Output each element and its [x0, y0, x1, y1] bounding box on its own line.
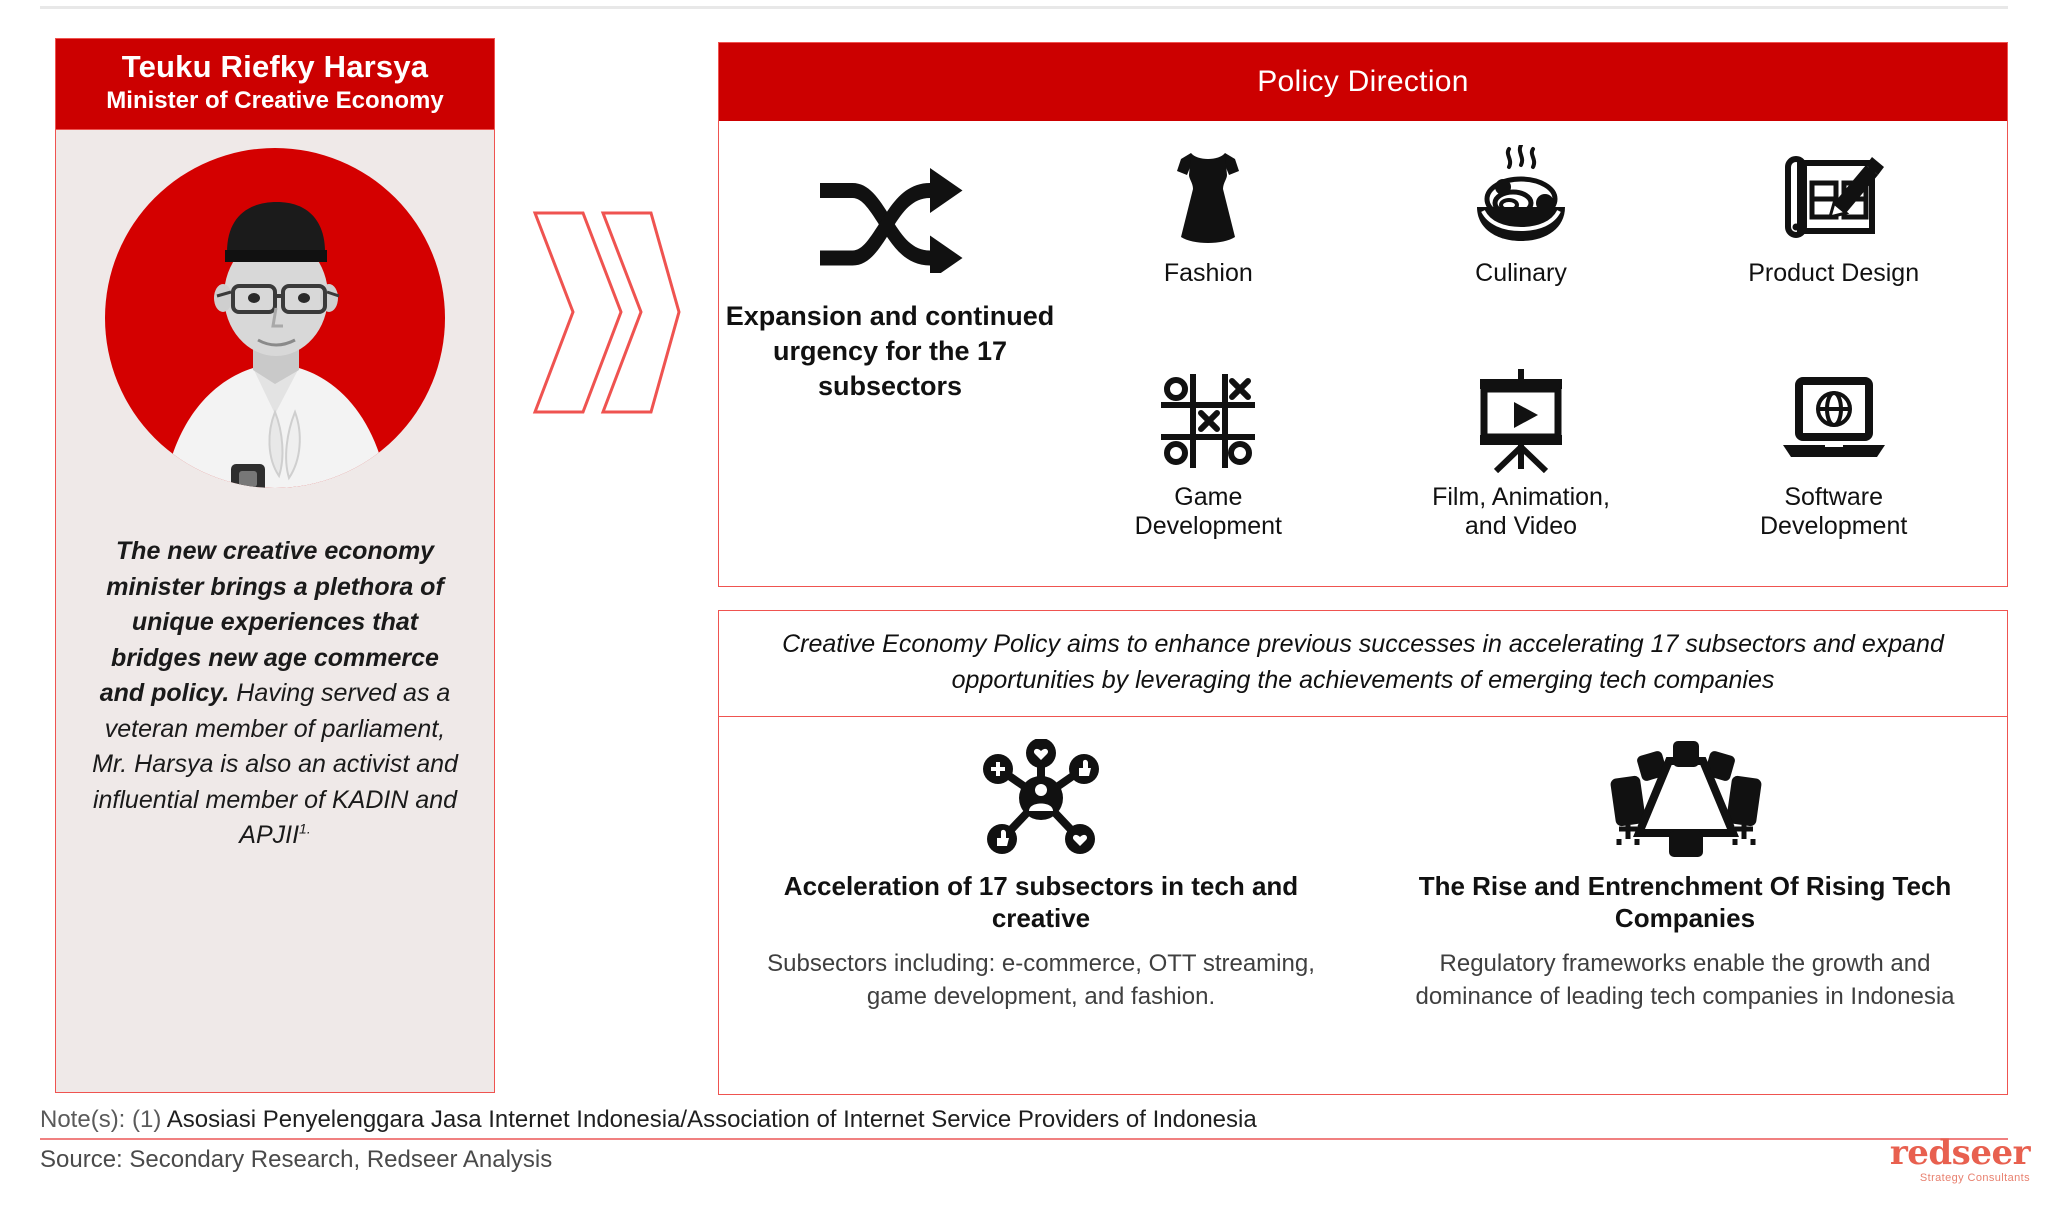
tic-tac-toe-icon — [1159, 365, 1257, 477]
subsector-game-development[interactable]: Game Development — [1055, 359, 1362, 581]
top-divider — [40, 6, 2008, 9]
pillar-rising-tech[interactable]: The Rise and Entrenchment Of Rising Tech… — [1363, 717, 2007, 1106]
pillar-heading: Acceleration of 17 subsectors in tech an… — [759, 871, 1323, 934]
minister-profile-panel: Teuku Riefky Harsya Minister of Creative… — [55, 38, 495, 1093]
subsector-label: Film, Animation, and Video — [1432, 483, 1610, 541]
subsector-label: Fashion — [1164, 259, 1253, 288]
laptop-globe-icon — [1779, 365, 1889, 477]
network-hub-icon — [978, 735, 1104, 857]
subsector-film-animation-video[interactable]: Film, Animation, and Video — [1368, 359, 1675, 581]
subsector-product-design[interactable]: Product Design — [1680, 135, 1987, 357]
notes-label: Note(s): — [40, 1106, 125, 1133]
subsector-label: Game Development — [1135, 483, 1282, 541]
logo-wordmark: redseer — [1890, 1136, 2030, 1170]
slide-root: Teuku Riefky Harsya Minister of Creative… — [0, 0, 2048, 1229]
notes-number: (1) — [132, 1106, 161, 1133]
pillar-description: Subsectors including: e-commerce, OTT st… — [759, 948, 1323, 1012]
subsector-software-development[interactable]: Software Development — [1680, 359, 1987, 581]
minister-name: Teuku Riefky Harsya — [64, 49, 486, 85]
conference-table-icon — [1605, 735, 1765, 857]
footer-divider — [40, 1138, 2008, 1140]
pillar-acceleration[interactable]: Acceleration of 17 subsectors in tech an… — [719, 717, 1363, 1106]
bio-footnote-marker: 1. — [299, 821, 311, 837]
noodle-bowl-icon — [1469, 141, 1573, 253]
subsector-fashion[interactable]: Fashion — [1055, 135, 1362, 357]
shuffle-icon — [815, 163, 965, 273]
creative-economy-policy-card: Creative Economy Policy aims to enhance … — [718, 610, 2008, 1095]
minister-photo — [56, 130, 494, 510]
subsector-label: Software Development — [1760, 483, 1907, 541]
policy-aim-banner: Creative Economy Policy aims to enhance … — [719, 611, 2007, 717]
policy-direction-card: Policy Direction Expansion and continued… — [718, 42, 2008, 587]
minister-portrait-illustration — [103, 146, 447, 510]
minister-role: Minister of Creative Economy — [64, 87, 486, 116]
notes-text: Asosiasi Penyelenggara Jasa Internet Ind… — [167, 1106, 1257, 1133]
pillar-heading: The Rise and Entrenchment Of Rising Tech… — [1403, 871, 1967, 934]
policy-pillars: Acceleration of 17 subsectors in tech an… — [719, 717, 2007, 1106]
minister-bio: The new creative economy minister brings… — [56, 510, 494, 864]
subsector-culinary[interactable]: Culinary — [1368, 135, 1675, 357]
redseer-logo: redseer Strategy Consultants — [1890, 1136, 2030, 1184]
dress-icon — [1165, 141, 1251, 253]
policy-direction-body: Expansion and continued urgency for the … — [719, 121, 2007, 586]
subsector-grid: Fashion — [1055, 135, 2001, 580]
profile-header: Teuku Riefky Harsya Minister of Creative… — [56, 39, 494, 130]
subsector-label: Product Design — [1748, 259, 1919, 288]
projector-screen-icon — [1470, 365, 1572, 477]
source-line: Source: Secondary Research, Redseer Anal… — [40, 1146, 2008, 1174]
policy-direction-title: Policy Direction — [719, 43, 2007, 121]
expansion-label: Expansion and continued urgency for the … — [725, 299, 1055, 404]
footer: Note(s): (1) Asosiasi Penyelenggara Jasa… — [40, 1106, 2008, 1174]
logo-tagline: Strategy Consultants — [1890, 1172, 2030, 1184]
notes-line: Note(s): (1) Asosiasi Penyelenggara Jasa… — [40, 1106, 2008, 1134]
chevron-arrows — [525, 205, 685, 420]
expansion-block: Expansion and continued urgency for the … — [725, 135, 1055, 580]
subsector-label: Culinary — [1475, 259, 1567, 288]
pillar-description: Regulatory frameworks enable the growth … — [1403, 948, 1967, 1012]
blueprint-pencil-icon — [1782, 141, 1886, 253]
